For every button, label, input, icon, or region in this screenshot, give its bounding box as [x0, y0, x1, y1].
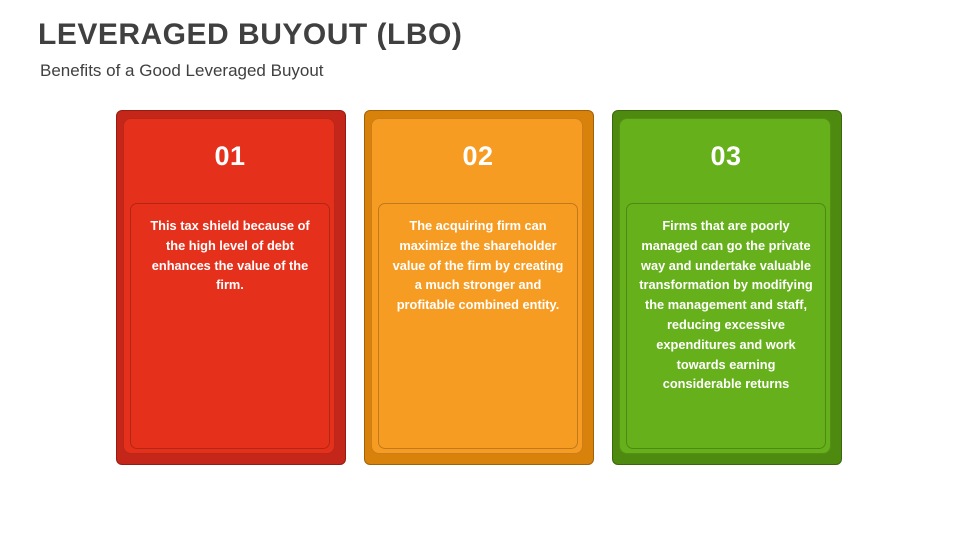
card-number-02: 02 — [372, 141, 584, 172]
card-inner-shape-02: 02 The acquiring firm can maximize the s… — [371, 118, 583, 454]
card-body-panel-02: The acquiring firm can maximize the shar… — [378, 203, 578, 449]
page-subtitle: Benefits of a Good Leveraged Buyout — [40, 61, 324, 81]
card-body-text-02: The acquiring firm can maximize the shar… — [389, 216, 567, 315]
card-inner-shape-03: 03 Firms that are poorly managed can go … — [619, 118, 831, 454]
card-body-text-01: This tax shield because of the high leve… — [141, 216, 319, 295]
card-body-panel-03: Firms that are poorly managed can go the… — [626, 203, 826, 449]
benefit-card-03[interactable]: 03 Firms that are poorly managed can go … — [612, 110, 842, 465]
benefit-card-01[interactable]: 01 This tax shield because of the high l… — [116, 110, 346, 465]
benefit-cards: 01 This tax shield because of the high l… — [116, 110, 846, 465]
benefit-card-02[interactable]: 02 The acquiring firm can maximize the s… — [364, 110, 594, 465]
card-inner-shape-01: 01 This tax shield because of the high l… — [123, 118, 335, 454]
card-body-text-03: Firms that are poorly managed can go the… — [637, 216, 815, 394]
card-number-03: 03 — [620, 141, 832, 172]
page-title: LEVERAGED BUYOUT (LBO) — [38, 18, 462, 52]
card-number-01: 01 — [124, 141, 336, 172]
slide-root: LEVERAGED BUYOUT (LBO) Benefits of a Goo… — [0, 0, 960, 540]
card-body-panel-01: This tax shield because of the high leve… — [130, 203, 330, 449]
